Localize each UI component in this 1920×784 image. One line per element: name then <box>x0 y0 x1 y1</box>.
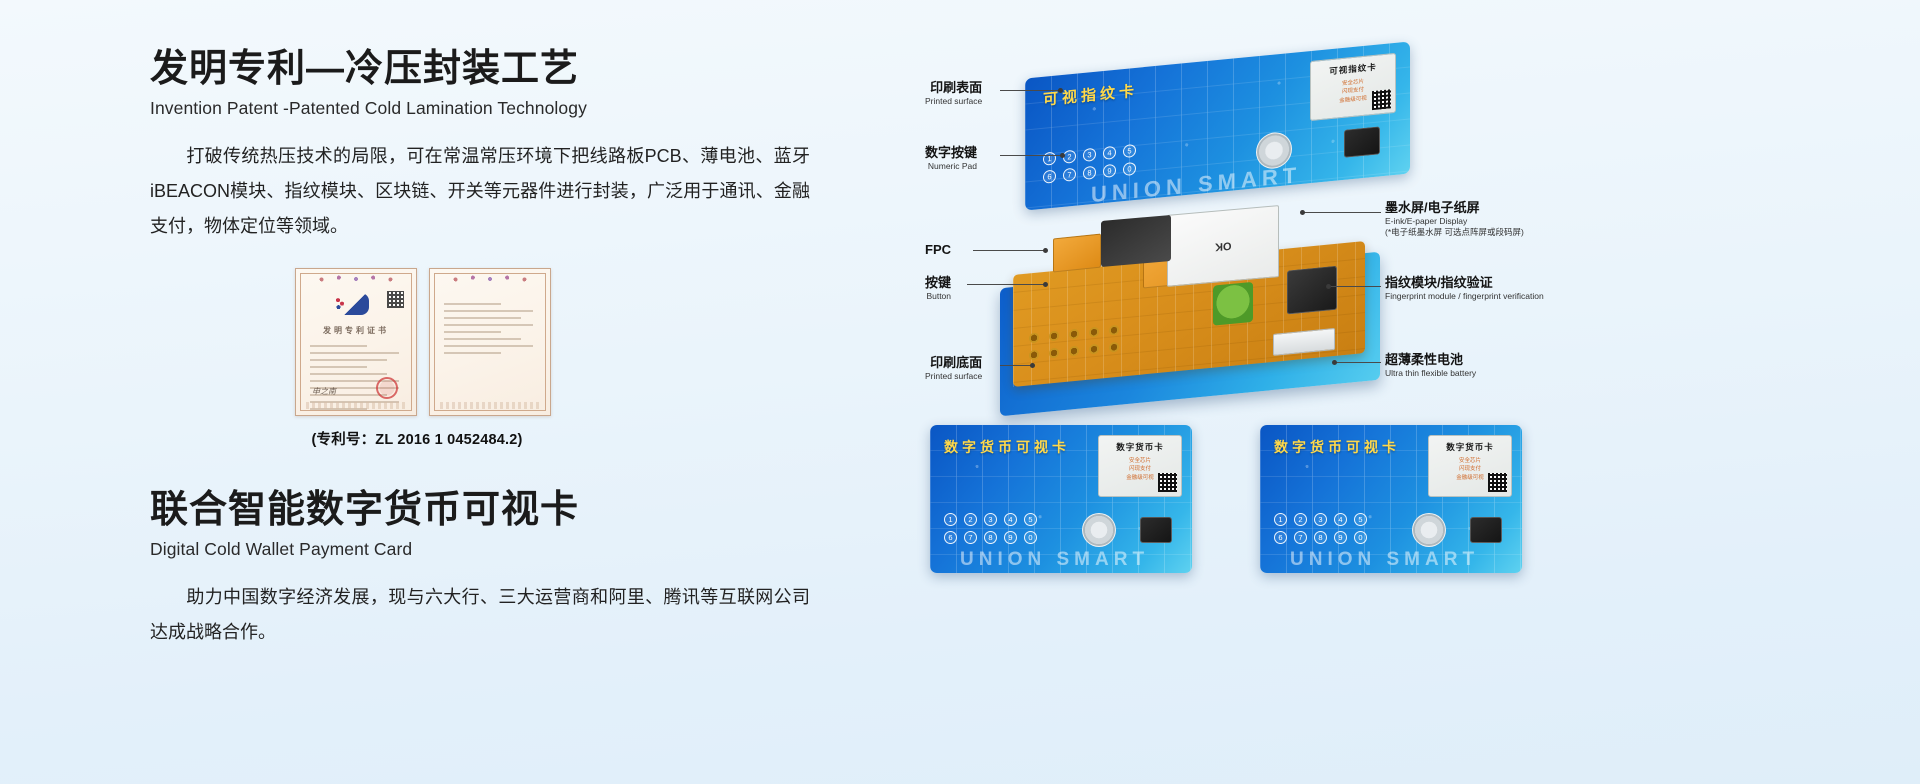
eink-label: OK <box>1215 239 1232 252</box>
keypad-key[interactable]: 8 <box>1083 166 1096 180</box>
keypad-key[interactable]: 4 <box>1334 513 1347 526</box>
keypad-key[interactable]: 9 <box>1103 164 1116 178</box>
patent-number: (专利号：ZL 2016 1 0452484.2) <box>295 428 539 449</box>
keypad-key[interactable]: 6 <box>1274 531 1287 544</box>
text-line <box>444 317 521 319</box>
card-display-screen: 可视指纹卡 安全芯片 闪现支付 金融级可视 <box>1310 53 1396 121</box>
callout-fingerprint-module: 指纹模块/指纹验证 Fingerprint module / fingerpri… <box>1385 275 1615 302</box>
keypad-key[interactable]: 8 <box>1314 531 1327 544</box>
callout-label-note: (*电子纸墨水屏 可选点阵屏或段码屏) <box>1385 227 1605 238</box>
contact-pad-icon <box>1069 329 1079 340</box>
callout-leader-line <box>1335 362 1381 363</box>
fingerprint-sensor-icon[interactable] <box>1412 513 1446 547</box>
callout-label-en: Numeric Pad <box>925 161 977 172</box>
keypad-key[interactable]: 5 <box>1024 513 1037 526</box>
keypad-key[interactable]: 3 <box>1314 513 1327 526</box>
currency-card-left: 数字货币可视卡 数字货币卡 安全芯片 闪现支付 金融级可视 1 2 3 4 5 … <box>930 425 1192 573</box>
marketing-page: 发明专利—冷压封装工艺 Invention Patent -Patented C… <box>0 0 1920 784</box>
contact-pad-icon <box>1049 348 1059 359</box>
certificate-title: 发明专利证书 <box>296 325 416 336</box>
screen-title: 可视指纹卡 <box>1329 61 1377 78</box>
currency-card-right: 数字货币可视卡 数字货币卡 安全芯片 闪现支付 金融级可视 1 2 3 4 5 … <box>1260 425 1522 573</box>
keypad-key[interactable]: 0 <box>1354 531 1367 544</box>
text-line <box>444 345 533 347</box>
qr-code-icon <box>1158 473 1177 492</box>
qr-code-icon <box>1488 473 1507 492</box>
callout-printed-surface-top: 印刷表面 Printed surface <box>925 80 982 107</box>
union-smart-watermark: UNION SMART <box>960 549 1149 571</box>
text-line <box>444 352 501 354</box>
callout-label-cn: 墨水屏/电子纸屏 <box>1385 200 1605 216</box>
text-line <box>310 366 367 368</box>
keypad-key[interactable]: 7 <box>1294 531 1307 544</box>
text-line <box>444 338 521 340</box>
callout-numeric-pad: 数字按键 Numeric Pad <box>925 145 977 172</box>
callout-label-en: E-ink/E-paper Display <box>1385 216 1605 227</box>
fingerprint-sensor-icon[interactable] <box>1082 513 1116 547</box>
keypad-key[interactable]: 6 <box>944 531 957 544</box>
screen-line: 闪现支付 <box>1126 465 1154 473</box>
keypad-key[interactable]: 1 <box>1043 152 1056 166</box>
qr-code-icon <box>1372 89 1391 110</box>
section1-heading-en: Invention Patent -Patented Cold Laminati… <box>150 98 830 119</box>
text-line <box>444 303 501 305</box>
callout-flexible-battery: 超薄柔性电池 Ultra thin flexible battery <box>1385 352 1595 379</box>
patent-office-logo-icon <box>343 293 369 315</box>
numeric-keypad[interactable]: 1 2 3 4 5 6 7 8 9 0 <box>944 513 1037 544</box>
callout-leader-line <box>973 250 1045 251</box>
screen-feature-lines: 安全芯片 闪现支付 金融级可视 <box>1126 457 1154 482</box>
callout-leader-line <box>1000 90 1060 91</box>
callout-eink-display: 墨水屏/电子纸屏 E-ink/E-paper Display (*电子纸墨水屏 … <box>1385 200 1605 238</box>
card-brand-text: 数字货币可视卡 <box>1274 437 1400 457</box>
chip-icon <box>1344 126 1380 157</box>
keypad-key[interactable]: 4 <box>1103 146 1116 160</box>
callout-fpc: FPC <box>925 242 951 258</box>
keypad-key[interactable]: 1 <box>1274 513 1287 526</box>
contact-pad-icon <box>1089 327 1099 338</box>
keypad-key[interactable]: 9 <box>1004 531 1017 544</box>
callout-label-cn: 指纹模块/指纹验证 <box>1385 275 1615 291</box>
section1-heading-cn: 发明专利—冷压封装工艺 <box>150 48 830 92</box>
keypad-key[interactable]: 2 <box>1294 513 1307 526</box>
screen-feature-lines: 安全芯片 闪现支付 金融级可视 <box>1456 457 1484 482</box>
callout-label-en: Printed surface <box>925 96 982 107</box>
keypad-key[interactable]: 8 <box>984 531 997 544</box>
certificate-ornament-icon <box>447 274 533 283</box>
section1-paragraph: 打破传统热压技术的局限，可在常温常压环境下把线路板PCB、薄电池、蓝牙iBEAC… <box>150 139 810 244</box>
text-line <box>310 345 367 347</box>
screen-line: 安全芯片 <box>1456 457 1484 465</box>
qr-code-icon <box>387 291 404 308</box>
certificate-footer-ornament-icon <box>306 402 406 409</box>
keypad-key[interactable]: 3 <box>1083 148 1096 162</box>
contact-pad-icon <box>1029 332 1039 343</box>
callout-button: 按键 Button <box>925 275 951 302</box>
callout-leader-line <box>1329 286 1381 287</box>
fpc-connector-icon <box>1053 233 1101 272</box>
keypad-key[interactable]: 2 <box>964 513 977 526</box>
numeric-keypad[interactable]: 1 2 3 4 5 6 7 8 9 0 <box>1274 513 1367 544</box>
card-brand-text: 数字货币可视卡 <box>944 437 1070 457</box>
text-line <box>310 352 399 354</box>
screen-feature-lines: 安全芯片 闪现支付 金融级可视 <box>1339 78 1367 105</box>
keypad-key[interactable]: 2 <box>1063 150 1076 164</box>
certificate-ornament-icon <box>313 274 399 283</box>
certificate-front: 发明专利证书 申之南 <box>295 268 417 416</box>
contact-pad-icon <box>1069 346 1079 357</box>
left-content-column: 发明专利—冷压封装工艺 Invention Patent -Patented C… <box>150 48 830 650</box>
text-line <box>310 359 387 361</box>
keypad-key[interactable]: 4 <box>1004 513 1017 526</box>
union-smart-watermark: UNION SMART <box>1290 549 1479 571</box>
callout-label-cn: 超薄柔性电池 <box>1385 352 1595 368</box>
section2-block: 联合智能数字货币可视卡 Digital Cold Wallet Payment … <box>150 489 830 650</box>
contact-pad-icon <box>1109 325 1119 336</box>
screen-title: 数字货币卡 <box>1116 441 1164 453</box>
display-driver-module-icon <box>1101 215 1171 267</box>
callout-label-cn: FPC <box>925 242 951 258</box>
screen-line: 金融级可视 <box>1456 474 1484 482</box>
keypad-key[interactable]: 9 <box>1334 531 1347 544</box>
screen-line: 闪现支付 <box>1456 465 1484 473</box>
contact-pad-icon <box>1109 342 1119 353</box>
screen-line: 安全芯片 <box>1126 457 1154 465</box>
card-display-screen: 数字货币卡 安全芯片 闪现支付 金融级可视 <box>1098 435 1182 497</box>
right-diagram-column: 可视指纹卡 可视指纹卡 安全芯片 闪现支付 金融级可视 1 2 3 4 5 6 … <box>905 40 1895 760</box>
contact-pad-icon <box>1029 349 1039 360</box>
certificate-body-lines <box>444 303 536 359</box>
callout-label-en: Fingerprint module / fingerprint verific… <box>1385 291 1615 302</box>
fingerprint-module-icon <box>1287 266 1337 315</box>
chip-icon <box>1140 517 1172 543</box>
certificate-signature: 申之南 <box>312 386 336 397</box>
section2-paragraph: 助力中国数字经济发展，现与六大行、三大运营商和阿里、腾讯等互联网公司达成战略合作… <box>150 580 810 650</box>
card-display-screen: 数字货币卡 安全芯片 闪现支付 金融级可视 <box>1428 435 1512 497</box>
callout-leader-line <box>1000 155 1062 156</box>
callout-printed-surface-bottom: 印刷底面 Printed surface <box>925 355 982 382</box>
contact-pad-icon <box>1089 344 1099 355</box>
callout-label-cn: 按键 <box>925 275 951 291</box>
section2-paragraph-text: 助力中国数字经济发展，现与六大行、三大运营商和阿里、腾讯等互联网公司达成战略合作… <box>150 587 810 642</box>
chip-icon <box>1470 517 1502 543</box>
callout-label-cn: 印刷底面 <box>925 355 982 371</box>
keypad-key[interactable]: 1 <box>944 513 957 526</box>
callout-label-cn: 印刷表面 <box>925 80 982 96</box>
keypad-key[interactable]: 6 <box>1043 170 1056 184</box>
keypad-key[interactable]: 3 <box>984 513 997 526</box>
fingerprint-card-top-face: 可视指纹卡 可视指纹卡 安全芯片 闪现支付 金融级可视 1 2 3 4 5 6 … <box>1025 41 1410 210</box>
callout-leader-line <box>967 284 1045 285</box>
keypad-key[interactable]: 5 <box>1123 144 1136 158</box>
keypad-key[interactable]: 7 <box>964 531 977 544</box>
certificate-footer-ornament-icon <box>440 402 540 409</box>
text-line <box>444 324 533 326</box>
keypad-key[interactable]: 7 <box>1063 168 1076 182</box>
text-line <box>310 373 387 375</box>
contact-pad-icon <box>1049 331 1059 342</box>
callout-label-en: Printed surface <box>925 371 982 382</box>
keypad-key[interactable]: 0 <box>1123 162 1136 176</box>
callout-label-cn: 数字按键 <box>925 145 977 161</box>
screen-line: 金融级可视 <box>1126 474 1154 482</box>
section2-heading-cn: 联合智能数字货币可视卡 <box>150 489 830 533</box>
section1-paragraph-text: 打破传统热压技术的局限，可在常温常压环境下把线路板PCB、薄电池、蓝牙iBEAC… <box>150 146 810 236</box>
text-line <box>444 310 533 312</box>
callout-label-en: Button <box>925 291 951 302</box>
keypad-key[interactable]: 5 <box>1354 513 1367 526</box>
section2-heading-en: Digital Cold Wallet Payment Card <box>150 539 830 560</box>
certificate-back <box>429 268 551 416</box>
official-seal-icon <box>376 377 398 399</box>
text-line <box>444 331 501 333</box>
callout-label-en: Ultra thin flexible battery <box>1385 368 1595 379</box>
callout-leader-line <box>1303 212 1381 213</box>
security-chip-icon <box>1213 282 1253 326</box>
callout-leader-line <box>1000 365 1032 366</box>
keypad-key[interactable]: 0 <box>1024 531 1037 544</box>
eink-display: OK <box>1167 205 1279 287</box>
screen-title: 数字货币卡 <box>1446 441 1494 453</box>
patent-certificate-images: 发明专利证书 申之南 <box>295 268 830 416</box>
